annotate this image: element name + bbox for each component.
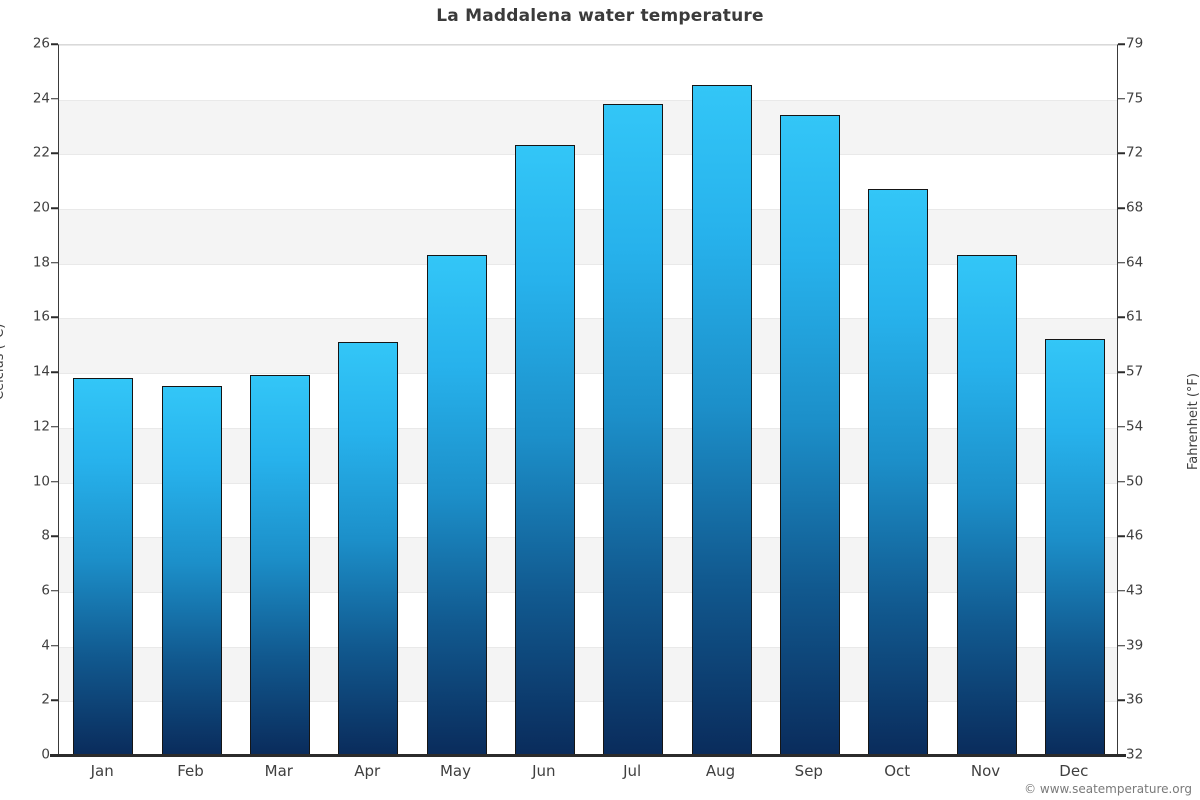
x-axis-line — [50, 754, 1126, 757]
y-tick-label-left: 18 — [4, 256, 50, 270]
y-tick-label-right: 61 — [1126, 311, 1172, 325]
y-tick-label-right: 50 — [1126, 475, 1172, 489]
y-tick-mark-right — [1118, 426, 1125, 428]
y-axis-right-title: Fahrenheit (°F) — [1186, 373, 1200, 470]
y-tick-label-right: 72 — [1126, 147, 1172, 161]
y-tick-label-left: 22 — [4, 147, 50, 161]
y-tick-mark-left — [51, 754, 58, 756]
y-tick-mark-right — [1118, 153, 1125, 155]
y-tick-label-right: 79 — [1126, 37, 1172, 51]
y-tick-label-right: 75 — [1126, 92, 1172, 106]
x-tick-label: Sep — [765, 760, 853, 782]
y-tick-mark-left — [51, 371, 58, 373]
y-tick-label-right: 54 — [1126, 420, 1172, 434]
y-tick-label-left: 6 — [4, 584, 50, 598]
x-tick-label: Jan — [58, 760, 146, 782]
x-tick-label: Jul — [588, 760, 676, 782]
plot-area — [58, 44, 1118, 755]
y-tick-label-right: 36 — [1126, 694, 1172, 708]
y-tick-label-left: 10 — [4, 475, 50, 489]
y-tick-label-left: 26 — [4, 37, 50, 51]
y-tick-mark-left — [51, 98, 58, 100]
y-tick-label-left: 0 — [4, 748, 50, 762]
bar[interactable] — [162, 386, 222, 755]
y-tick-label-left: 20 — [4, 201, 50, 215]
y-tick-mark-right — [1118, 317, 1125, 319]
y-tick-label-right: 43 — [1126, 584, 1172, 598]
y-tick-label-right: 32 — [1126, 748, 1172, 762]
x-tick-label: Oct — [853, 760, 941, 782]
y-tick-label-right: 57 — [1126, 365, 1172, 379]
y-tick-mark-right — [1118, 98, 1125, 100]
y-tick-mark-left — [51, 153, 58, 155]
x-tick-label: Apr — [323, 760, 411, 782]
x-tick-label: Jun — [500, 760, 588, 782]
y-tick-mark-right — [1118, 754, 1125, 756]
x-tick-label: Aug — [676, 760, 764, 782]
bar[interactable] — [1045, 339, 1105, 755]
bar[interactable] — [338, 342, 398, 755]
y-tick-mark-right — [1118, 43, 1125, 45]
y-tick-label-left: 12 — [4, 420, 50, 434]
gridline — [59, 154, 1117, 155]
bar[interactable] — [692, 85, 752, 755]
water-temperature-chart: La Maddalena water temperature 024681012… — [0, 0, 1200, 800]
y-tick-mark-right — [1118, 481, 1125, 483]
y-tick-mark-left — [51, 317, 58, 319]
y-tick-mark-right — [1118, 590, 1125, 592]
bar[interactable] — [515, 145, 575, 755]
x-tick-label: Feb — [146, 760, 234, 782]
y-tick-mark-left — [51, 700, 58, 702]
y-tick-mark-right — [1118, 207, 1125, 209]
x-tick-label: May — [411, 760, 499, 782]
gridline — [59, 45, 1117, 46]
bar[interactable] — [603, 104, 663, 755]
y-tick-label-right: 64 — [1126, 256, 1172, 270]
bar[interactable] — [868, 189, 928, 755]
gridline — [59, 100, 1117, 101]
y-tick-mark-right — [1118, 262, 1125, 264]
y-tick-mark-left — [51, 535, 58, 537]
y-tick-mark-left — [51, 262, 58, 264]
y-tick-mark-left — [51, 43, 58, 45]
y-tick-label-left: 14 — [4, 365, 50, 379]
y-tick-mark-left — [51, 481, 58, 483]
x-tick-label: Mar — [235, 760, 323, 782]
background-band — [59, 100, 1117, 155]
y-tick-label-left: 24 — [4, 92, 50, 106]
x-axis-labels: JanFebMarAprMayJunJulAugSepOctNovDec — [58, 760, 1118, 786]
y-tick-label-left: 2 — [4, 694, 50, 708]
y-tick-label-left: 8 — [4, 529, 50, 543]
bar[interactable] — [957, 255, 1017, 755]
bar[interactable] — [427, 255, 487, 755]
chart-title: La Maddalena water temperature — [0, 6, 1200, 26]
y-axis-right-ticks: 3236394346505457616468727579 — [1126, 44, 1176, 755]
bar[interactable] — [780, 115, 840, 755]
x-tick-label: Dec — [1030, 760, 1118, 782]
y-axis-left-title: Celcius (°C) — [0, 324, 7, 400]
y-tick-mark-left — [51, 426, 58, 428]
y-tick-label-left: 16 — [4, 311, 50, 325]
y-tick-label-right: 68 — [1126, 201, 1172, 215]
y-tick-mark-right — [1118, 535, 1125, 537]
y-tick-mark-right — [1118, 371, 1125, 373]
y-axis-left-ticks: 02468101214161820222426 — [0, 44, 50, 755]
y-tick-mark-left — [51, 645, 58, 647]
bar[interactable] — [73, 378, 133, 755]
x-tick-label: Nov — [941, 760, 1029, 782]
y-tick-label-right: 39 — [1126, 639, 1172, 653]
y-tick-mark-right — [1118, 700, 1125, 702]
y-tick-mark-left — [51, 207, 58, 209]
gridline — [59, 209, 1117, 210]
y-tick-mark-left — [51, 590, 58, 592]
copyright-credit: © www.seatemperature.org — [1024, 782, 1192, 796]
bar[interactable] — [250, 375, 310, 755]
y-tick-label-right: 46 — [1126, 529, 1172, 543]
y-tick-mark-right — [1118, 645, 1125, 647]
y-tick-label-left: 4 — [4, 639, 50, 653]
